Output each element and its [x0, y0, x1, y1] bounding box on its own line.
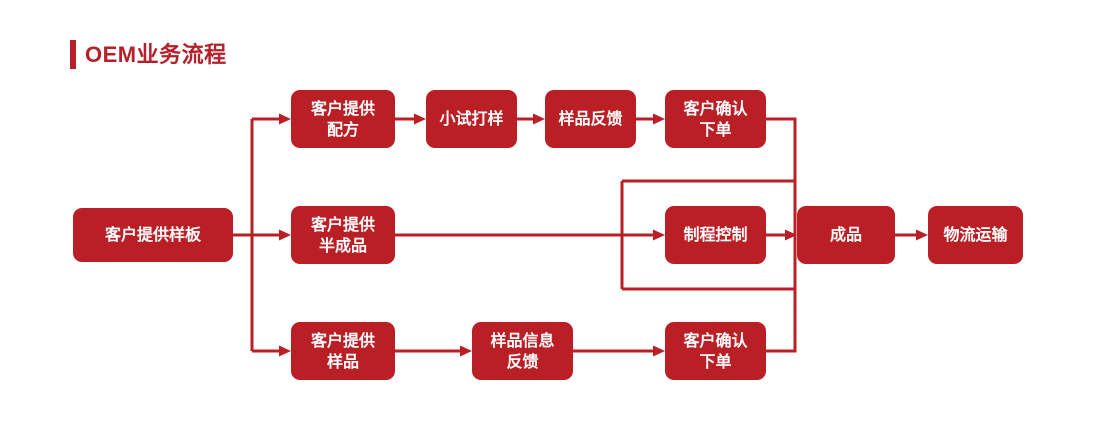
- arrowhead-to-semi: [279, 230, 291, 241]
- node-confirm-order-bottom-label-line1: 客户确认: [683, 331, 748, 350]
- node-formula-label-line1: 客户提供: [311, 99, 375, 118]
- node-semi-finished-label-line1: 客户提供: [311, 215, 375, 234]
- node-confirm-order-top[interactable]: 客户确认 下单: [665, 90, 766, 148]
- node-start-label: 客户提供样板: [105, 225, 202, 244]
- node-semi-finished-label-line2: 半成品: [319, 236, 367, 255]
- node-semi-finished[interactable]: 客户提供 半成品: [291, 206, 395, 264]
- node-confirm-order-bottom-shape: [665, 322, 766, 380]
- node-confirm-order-top-shape: [665, 90, 766, 148]
- node-sample-info-feedback-label-line1: 样品信息: [490, 331, 554, 350]
- node-semi-finished-shape: [291, 206, 395, 264]
- node-start[interactable]: 客户提供样板: [73, 208, 233, 262]
- node-confirm-order-bottom[interactable]: 客户确认 下单: [665, 322, 766, 380]
- arrowhead-to-sample-info: [460, 346, 472, 357]
- node-logistics[interactable]: 物流运输: [928, 206, 1023, 264]
- node-trial[interactable]: 小试打样: [426, 90, 517, 148]
- node-confirm-order-top-label-line2: 下单: [699, 120, 731, 139]
- node-trial-label: 小试打样: [439, 109, 503, 128]
- node-logistics-label: 物流运输: [943, 225, 1008, 244]
- node-formula-shape: [291, 90, 395, 148]
- node-sample-feedback[interactable]: 样品反馈: [545, 90, 636, 148]
- arrowhead-to-sample: [279, 346, 291, 357]
- node-finished-product-label: 成品: [830, 225, 862, 244]
- node-customer-sample-label-line1: 客户提供: [311, 331, 375, 350]
- node-formula-label-line2: 配方: [327, 120, 359, 139]
- arrowhead-to-feedback: [533, 114, 545, 125]
- arrowhead-to-formula: [279, 114, 291, 125]
- node-sample-feedback-label: 样品反馈: [558, 109, 622, 128]
- node-sample-info-feedback[interactable]: 样品信息 反馈: [472, 322, 573, 380]
- node-process-control-label: 制程控制: [683, 225, 747, 244]
- edge-confirm-bot-to-product: [766, 235, 795, 351]
- arrowhead-to-confirm-top: [653, 114, 665, 125]
- flowchart-canvas: OEM业务流程: [0, 0, 1096, 433]
- node-confirm-order-bottom-label-line2: 下单: [699, 352, 731, 371]
- arrowhead-to-process: [653, 230, 665, 241]
- arrowhead-to-trial: [414, 114, 426, 125]
- arrowhead-to-logistics: [916, 230, 928, 241]
- node-process-control[interactable]: 制程控制: [665, 206, 766, 264]
- node-sample-info-feedback-shape: [472, 322, 573, 380]
- node-formula[interactable]: 客户提供 配方: [291, 90, 395, 148]
- flow-diagram: 客户提供样板 客户提供 配方 小试打样 样品反馈 客户确认: [0, 0, 1096, 433]
- node-confirm-order-top-label-line1: 客户确认: [683, 99, 748, 118]
- edge-confirm-top-to-product: [766, 119, 795, 235]
- node-customer-sample-shape: [291, 322, 395, 380]
- node-customer-sample-label-line2: 样品: [327, 352, 359, 371]
- node-sample-info-feedback-label-line2: 反馈: [506, 352, 538, 371]
- node-finished-product[interactable]: 成品: [797, 206, 895, 264]
- node-customer-sample[interactable]: 客户提供 样品: [291, 322, 395, 380]
- arrowhead-to-confirm-bot: [653, 346, 665, 357]
